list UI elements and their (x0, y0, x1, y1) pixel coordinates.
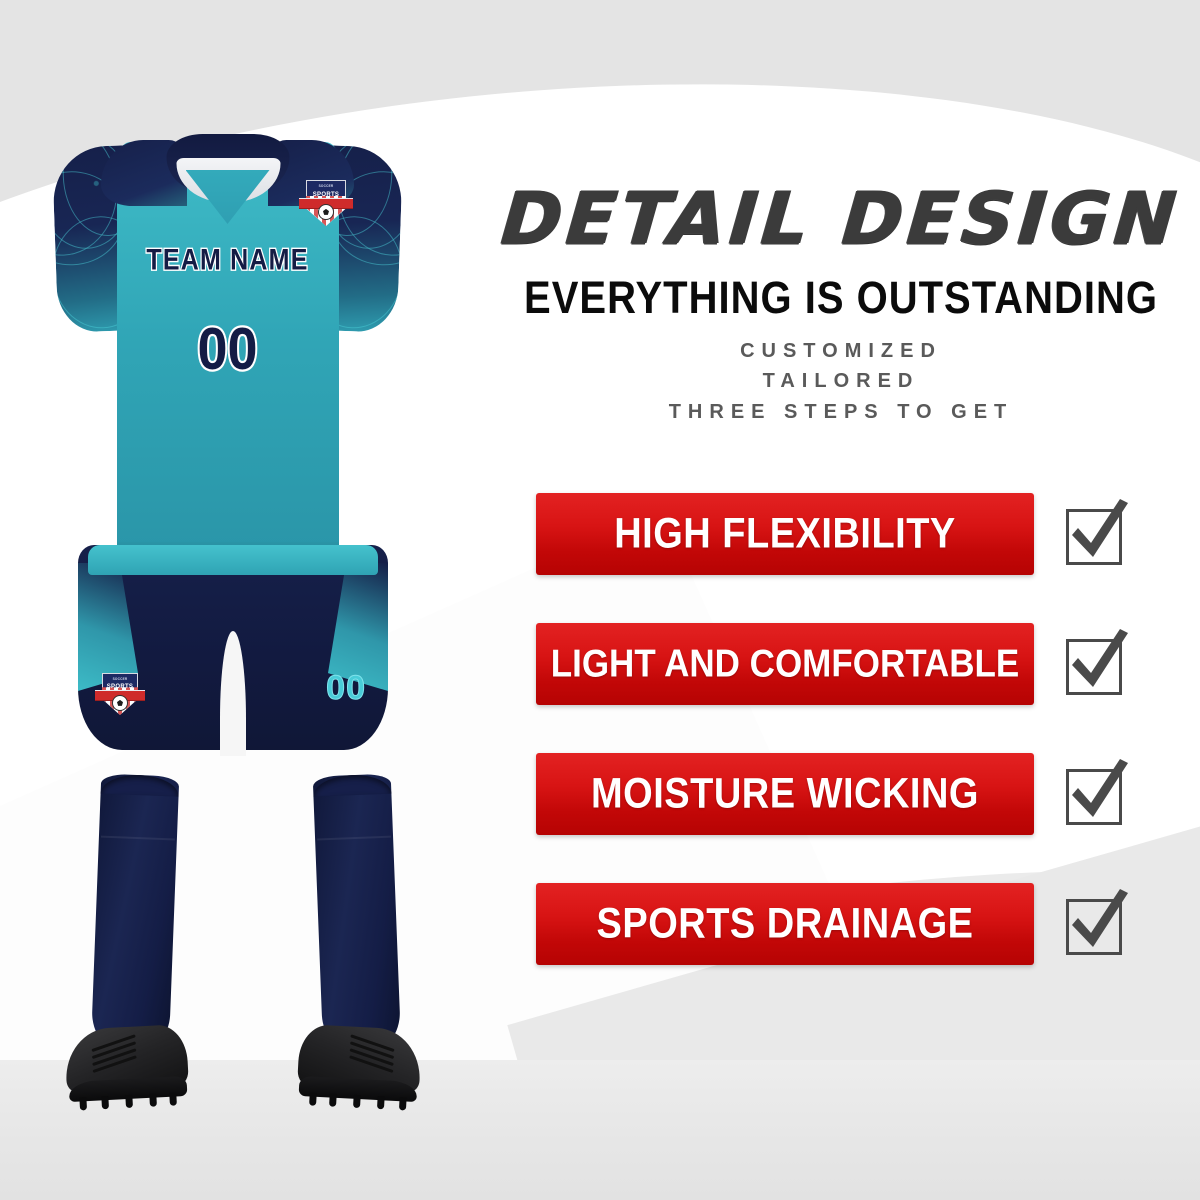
feature-item-light-and-comfortable: LIGHT AND COMFORTABLE (536, 623, 1156, 711)
soccer-ball-icon (318, 204, 334, 220)
feature-badge: LIGHT AND COMFORTABLE (536, 623, 1034, 705)
feature-item-moisture-wicking: MOISTURE WICKING (536, 753, 1156, 841)
feature-badge: MOISTURE WICKING (536, 753, 1034, 835)
feature-label: SPORTS DRAINAGE (597, 900, 974, 948)
tagline-item: TAILORED (500, 366, 1182, 396)
tagline-list: CUSTOMIZED TAILORED THREE STEPS TO GET (500, 336, 1182, 427)
jersey-number: 00 (55, 315, 400, 383)
feature-label: LIGHT AND COMFORTABLE (551, 642, 1020, 687)
tagline-item: CUSTOMIZED (500, 336, 1182, 366)
soccer-shorts: SOCCER SPORTS 00 (78, 545, 388, 760)
feature-badge: SPORTS DRAINAGE (536, 883, 1034, 965)
feature-badge: HIGH FLEXIBILITY (536, 493, 1034, 575)
shorts-waistband (88, 545, 378, 575)
crest-top-word: SOCCER (306, 184, 346, 188)
right-cleat (296, 1024, 422, 1116)
socks-and-cleats (60, 775, 420, 1175)
left-sock (91, 774, 180, 1055)
feature-label: MOISTURE WICKING (591, 770, 979, 818)
marketing-copy: DETAIL DESIGN EVERYTHING IS OUTSTANDING … (500, 0, 1200, 1200)
jersey-team-name: TEAM NAME (55, 243, 400, 277)
feature-item-sports-drainage: SPORTS DRAINAGE (536, 883, 1156, 971)
feature-item-high-flexibility: HIGH FLEXIBILITY (536, 493, 1156, 581)
page-title: DETAIL DESIGN (496, 176, 1185, 260)
tagline-item: THREE STEPS TO GET (500, 397, 1182, 427)
right-sock (313, 774, 402, 1055)
page-subtitle: EVERYTHING IS OUTSTANDING (500, 273, 1182, 324)
feature-list: HIGH FLEXIBILITY LIGHT AND COMFORTABLE (536, 493, 1156, 1013)
product-marketing-banner: SOCCER SPORTS TEAM NAME 00 SOCCER SPORTS (0, 0, 1200, 1200)
checkmark-icon (1058, 495, 1136, 575)
product-photo: SOCCER SPORTS TEAM NAME 00 SOCCER SPORTS (0, 0, 520, 1200)
crest-word: SPORTS (102, 684, 138, 690)
shorts-number: 00 (326, 669, 366, 708)
left-cleat (64, 1024, 190, 1116)
crest-top-word: SOCCER (102, 677, 138, 681)
team-crest-logo: SOCCER SPORTS (306, 180, 346, 226)
checkmark-icon (1058, 885, 1136, 965)
checkmark-icon (1058, 755, 1136, 835)
soccer-ball-icon (112, 695, 128, 711)
soccer-jersey: SOCCER SPORTS TEAM NAME 00 (55, 118, 400, 563)
shorts-crest-logo: SOCCER SPORTS (102, 673, 138, 715)
crest-word: SPORTS (306, 192, 346, 198)
feature-label: HIGH FLEXIBILITY (614, 510, 956, 558)
checkmark-icon (1058, 625, 1136, 705)
